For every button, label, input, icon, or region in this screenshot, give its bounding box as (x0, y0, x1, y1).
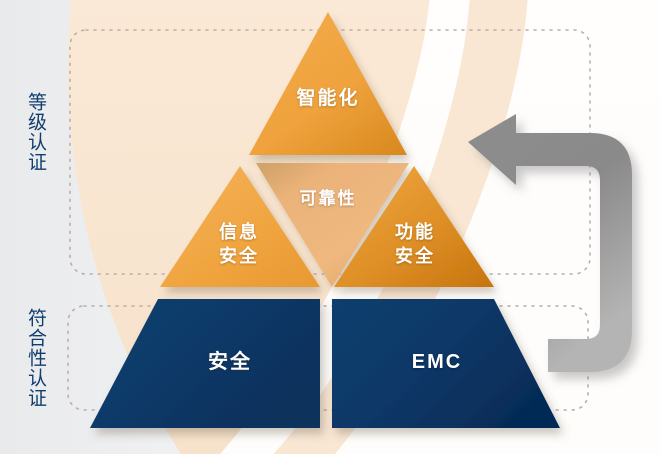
label-grade-certification: 等级认证 (24, 92, 47, 172)
shape-label-smart: 智能化 (268, 88, 388, 110)
shape-label-safety: 安全 (175, 350, 285, 374)
shape-label-reliability: 可靠性 (273, 189, 383, 209)
shape-label-emc: EMC (382, 350, 492, 374)
shape-label-information-security: 信息 安全 (194, 220, 284, 268)
shape-top-smart[interactable] (249, 12, 407, 155)
pyramid-layer (0, 0, 660, 454)
shape-label-functional-safety: 功能 安全 (370, 220, 460, 268)
diagram-canvas: 等级认证 符合性认证 智能化 可靠性 信息 安全 功能 安全 安全 EMC (0, 0, 660, 454)
label-compliance-certification: 符合性认证 (24, 308, 47, 408)
